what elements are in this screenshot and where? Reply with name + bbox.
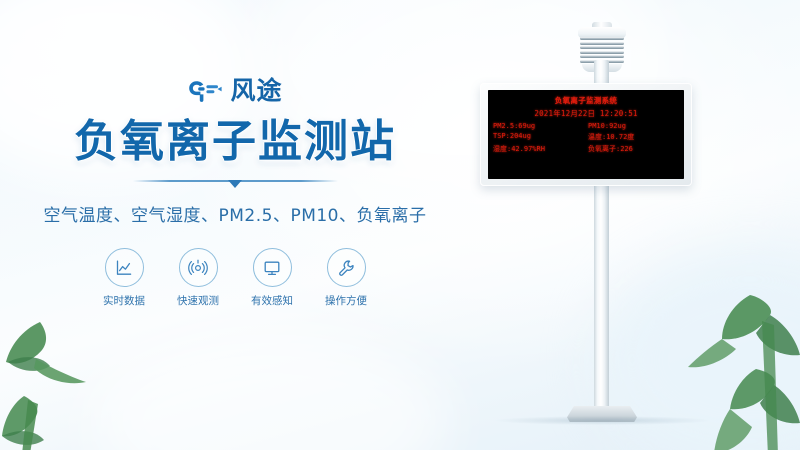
display-readings: PM2.5:69ug PM10:92ug TSP:204ug 温度:10.72度… <box>488 122 684 154</box>
triangle-down-divider-icon <box>228 180 242 188</box>
page-subtitle: 空气温度、空气湿度、PM2.5、PM10、负氧离子 <box>0 201 470 226</box>
reading-humidity: 湿度:42.97%RH <box>493 144 584 154</box>
reading-pm10: PM10:92ug <box>588 122 679 130</box>
promo-banner: 风途 负氧离子监测站 空气温度、空气湿度、PM2.5、PM10、负氧离子 实时数… <box>0 0 800 450</box>
feature-item-fast-observation[interactable]: 快速观测 <box>174 248 222 308</box>
display-datetime: 2021年12月22日 12:20:51 <box>488 108 684 119</box>
ground-shadow <box>495 416 710 425</box>
monitoring-station-device: 负氧离子监测系统 2021年12月22日 12:20:51 PM2.5:69ug… <box>455 0 755 450</box>
green-leaf-icon <box>0 304 144 450</box>
background-glow-4 <box>90 330 450 450</box>
led-display-panel[interactable]: 负氧离子监测系统 2021年12月22日 12:20:51 PM2.5:69ug… <box>480 83 692 186</box>
feature-label: 有效感知 <box>248 293 296 308</box>
page-title: 负氧离子监测站 <box>0 117 470 167</box>
feature-item-easy-operation[interactable]: 操作方便 <box>322 248 370 308</box>
feature-item-realtime-data[interactable]: 实时数据 <box>100 248 148 308</box>
reading-negative-oxygen-ions: 负氧离子:226 <box>588 144 679 154</box>
line-chart-icon <box>105 248 144 287</box>
reading-pm25: PM2.5:69ug <box>493 122 584 130</box>
wrench-icon <box>327 248 366 287</box>
monitor-icon <box>253 248 292 287</box>
radar-scan-icon <box>179 248 218 287</box>
feature-label: 实时数据 <box>100 293 148 308</box>
reading-temperature: 温度:10.72度 <box>588 132 679 142</box>
feature-list: 实时数据 快速观测 <box>0 248 470 308</box>
feature-label: 操作方便 <box>322 293 370 308</box>
brand-logo: 风途 <box>0 74 470 108</box>
display-title: 负氧离子监测系统 <box>488 95 684 106</box>
brand-name: 风途 <box>230 78 282 104</box>
feature-item-effective-sensing[interactable]: 有效感知 <box>248 248 296 308</box>
reading-tsp: TSP:204ug <box>493 132 584 142</box>
title-divider <box>133 176 338 188</box>
fengtu-wind-cloud-logo-icon <box>187 78 223 104</box>
hero-text-block: 风途 负氧离子监测站 空气温度、空气湿度、PM2.5、PM10、负氧离子 实时数… <box>0 74 470 308</box>
feature-label: 快速观测 <box>174 293 222 308</box>
led-screen: 负氧离子监测系统 2021年12月22日 12:20:51 PM2.5:69ug… <box>488 90 684 179</box>
